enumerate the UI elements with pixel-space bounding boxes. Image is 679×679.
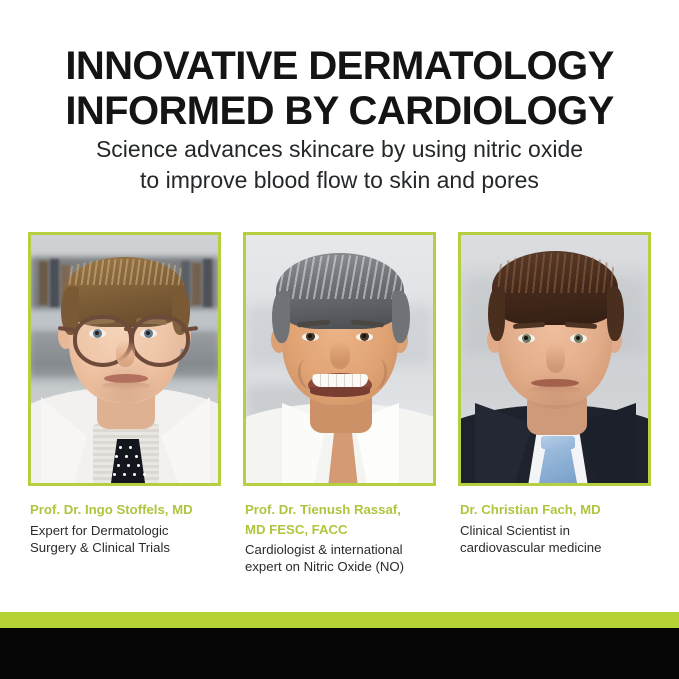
- expert-caption-3: Dr. Christian Fach, MD Clinical Scientis…: [458, 502, 651, 556]
- expert-role-3-line-1: Clinical Scientist in: [460, 522, 651, 539]
- expert-cards-row: Prof. Dr. Ingo Stoffels, MD Expert for D…: [28, 232, 651, 575]
- headline-line-2: INFORMED BY CARDIOLOGY: [0, 89, 679, 134]
- expert-role-1-line-1: Expert for Dermatologic: [30, 522, 221, 539]
- expert-name-2-line-1: Prof. Dr. Tienush Rassaf,: [245, 502, 436, 519]
- portrait-ingo-stoffels: [31, 235, 218, 483]
- expert-caption-2: Prof. Dr. Tienush Rassaf, MD FESC, FACC …: [243, 502, 436, 575]
- expert-photo-frame-2: [243, 232, 436, 486]
- expert-card-1: Prof. Dr. Ingo Stoffels, MD Expert for D…: [28, 232, 221, 575]
- portrait-christian-fach: [461, 235, 648, 483]
- expert-caption-1: Prof. Dr. Ingo Stoffels, MD Expert for D…: [28, 502, 221, 556]
- expert-role-2-line-2: expert on Nitric Oxide (NO): [245, 558, 436, 575]
- expert-card-3: Dr. Christian Fach, MD Clinical Scientis…: [458, 232, 651, 575]
- headline-block: INNOVATIVE DERMATOLOGY INFORMED BY CARDI…: [0, 44, 679, 134]
- subheadline-line-1: Science advances skincare by using nitri…: [0, 134, 679, 165]
- expert-role-3-line-2: cardiovascular medicine: [460, 539, 651, 556]
- expert-card-2: Prof. Dr. Tienush Rassaf, MD FESC, FACC …: [243, 232, 436, 575]
- expert-name-1: Prof. Dr. Ingo Stoffels, MD: [30, 502, 221, 519]
- bottom-black-bar: [0, 628, 679, 679]
- expert-photo-frame-1: [28, 232, 221, 486]
- headline-line-1: INNOVATIVE DERMATOLOGY: [0, 44, 679, 89]
- bottom-green-bar: [0, 612, 679, 628]
- expert-role-1-line-2: Surgery & Clinical Trials: [30, 539, 221, 556]
- subheadline-line-2: to improve blood flow to skin and pores: [0, 165, 679, 196]
- expert-name-2-line-2: MD FESC, FACC: [245, 522, 436, 539]
- expert-role-2-line-1: Cardiologist & international: [245, 541, 436, 558]
- expert-name-3: Dr. Christian Fach, MD: [460, 502, 651, 519]
- expert-photo-frame-3: [458, 232, 651, 486]
- subheadline-block: Science advances skincare by using nitri…: [0, 134, 679, 196]
- portrait-tienush-rassaf: [246, 235, 433, 483]
- marketing-poster: INNOVATIVE DERMATOLOGY INFORMED BY CARDI…: [0, 0, 679, 679]
